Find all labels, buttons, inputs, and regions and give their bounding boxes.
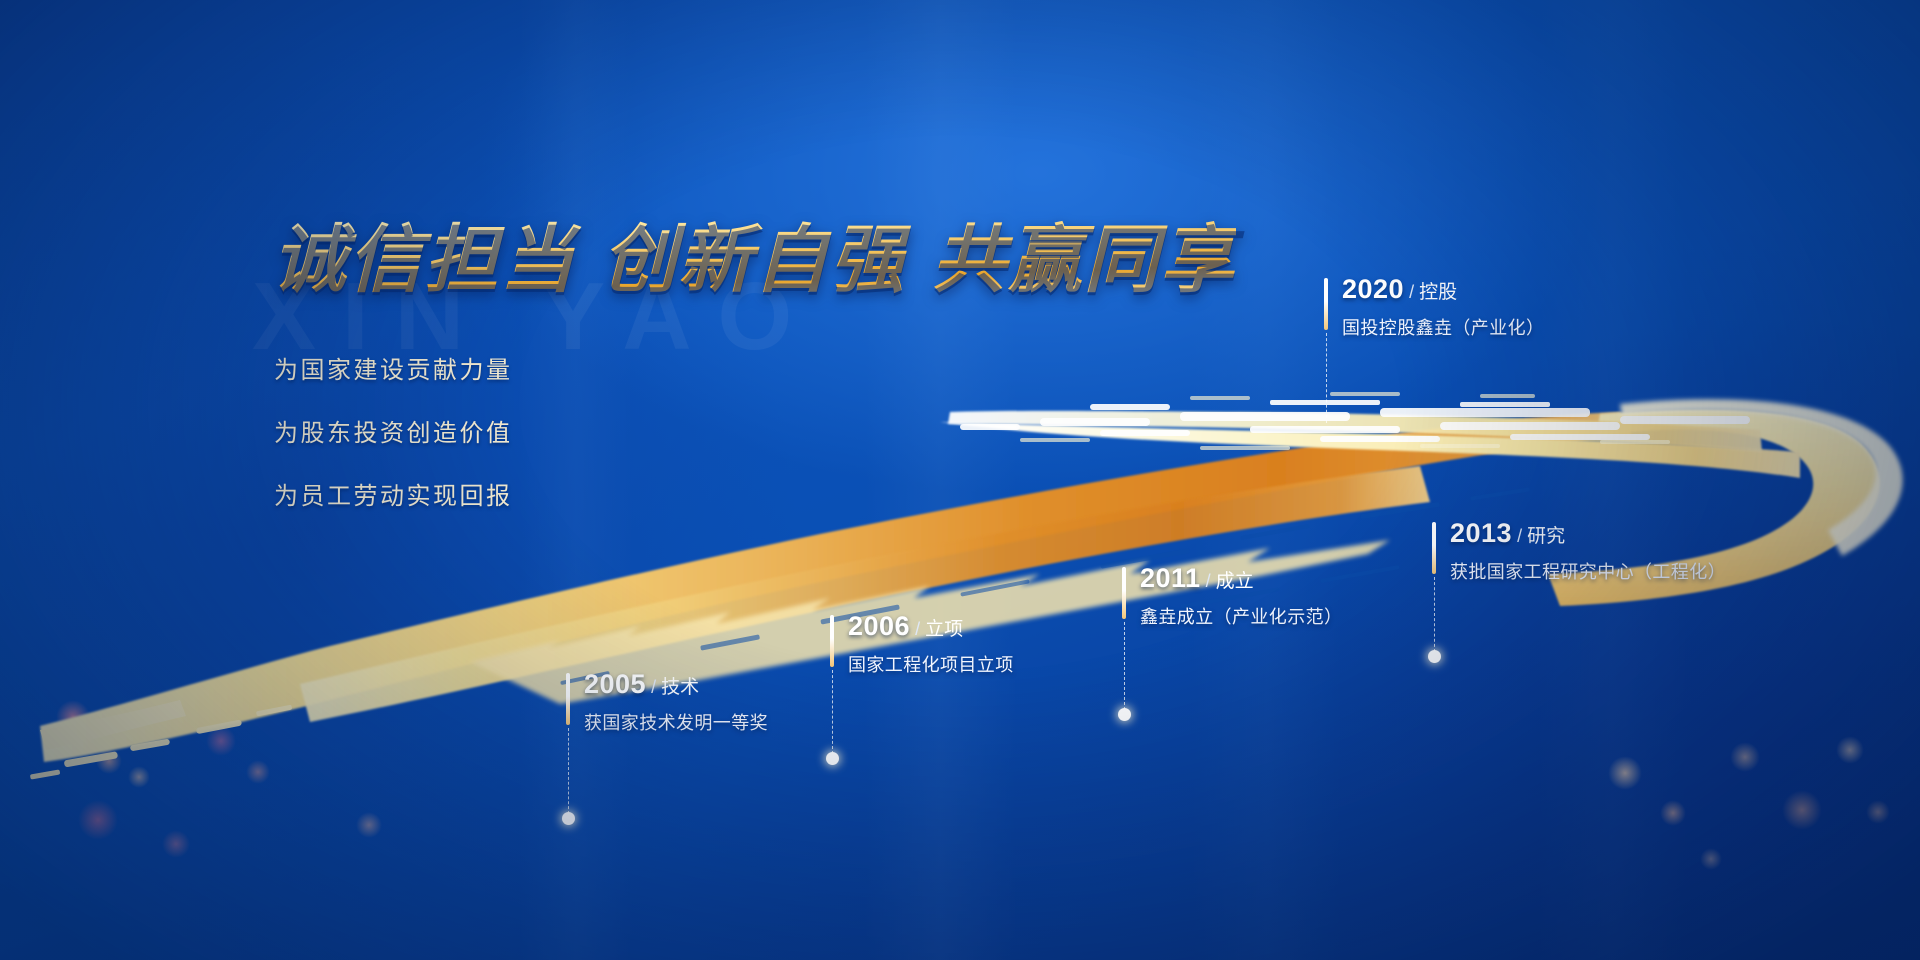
banner-stage: XIN YAO 诚信担当创新自强共赢同享 为国家建设贡献力量 为股东投资创造价值… xyxy=(0,0,1920,960)
marker-year: 2020 xyxy=(1342,274,1404,304)
marker-heading: 2006/立项 xyxy=(848,611,1014,642)
marker-accent-bar xyxy=(830,615,834,667)
bokeh-light xyxy=(1866,800,1890,824)
marker-heading: 2020/控股 xyxy=(1342,274,1544,305)
headline-part-2: 创新自强 xyxy=(602,217,906,303)
marker-heading: 2005/技术 xyxy=(584,669,768,700)
marker-description: 国家工程化项目立项 xyxy=(848,651,1014,677)
marker-text-block: 2011/成立 鑫垚成立（产业化示范） xyxy=(1140,563,1342,629)
marker-leader-line-2006 xyxy=(832,670,833,754)
bokeh-light xyxy=(1730,742,1760,772)
marker-text-block: 2005/技术 获国家技术发明一等奖 xyxy=(584,669,768,735)
marker-accent-bar xyxy=(1432,522,1436,574)
bokeh-light xyxy=(246,760,270,784)
marker-leader-line-2013 xyxy=(1434,577,1435,652)
marker-heading: 2011/成立 xyxy=(1140,563,1342,594)
headline-part-1: 诚信担当 xyxy=(272,217,576,303)
bokeh-light xyxy=(1836,736,1864,764)
marker-dot-2005 xyxy=(562,812,575,825)
marker-leader-line-2020 xyxy=(1326,333,1327,423)
marker-description: 获批国家工程研究中心（工程化） xyxy=(1450,558,1726,584)
marker-text-block: 2020/控股 国投控股鑫垚（产业化） xyxy=(1342,274,1544,340)
bokeh-light xyxy=(56,700,90,734)
marker-tag: 立项 xyxy=(925,618,963,640)
bokeh-light xyxy=(1700,848,1722,870)
marker-separator: / xyxy=(915,619,920,639)
marker-year: 2006 xyxy=(848,611,910,641)
subtitle-list: 为国家建设贡献力量 为股东投资创造价值 为员工劳动实现回报 xyxy=(274,350,513,539)
bokeh-light xyxy=(1782,790,1822,830)
headline-part-3: 共赢同享 xyxy=(932,217,1236,303)
subtitle-line-1: 为国家建设贡献力量 xyxy=(274,350,513,385)
marker-accent-bar xyxy=(1122,567,1126,619)
marker-leader-line-2005 xyxy=(568,728,569,814)
marker-tag: 成立 xyxy=(1216,570,1254,592)
marker-description: 鑫垚成立（产业化示范） xyxy=(1140,603,1342,629)
marker-separator: / xyxy=(651,677,656,697)
marker-separator: / xyxy=(1517,526,1522,546)
marker-description: 国投控股鑫垚（产业化） xyxy=(1342,314,1544,340)
bokeh-light xyxy=(96,748,122,774)
bokeh-light xyxy=(1660,800,1686,826)
marker-text-block: 2013/研究 获批国家工程研究中心（工程化） xyxy=(1450,518,1726,584)
marker-text-block: 2006/立项 国家工程化项目立项 xyxy=(848,611,1014,677)
page-title: 诚信担当创新自强共赢同享 xyxy=(272,200,1236,307)
marker-tag: 研究 xyxy=(1527,525,1565,547)
marker-accent-bar xyxy=(1324,278,1328,330)
marker-separator: / xyxy=(1206,571,1211,591)
subtitle-line-3: 为员工劳动实现回报 xyxy=(274,476,513,511)
bokeh-light xyxy=(128,766,150,788)
marker-description: 获国家技术发明一等奖 xyxy=(584,709,768,735)
bokeh-light xyxy=(162,830,190,858)
marker-tag: 控股 xyxy=(1419,281,1457,303)
marker-accent-bar xyxy=(566,673,570,725)
bokeh-light xyxy=(78,800,118,840)
marker-heading: 2013/研究 xyxy=(1450,518,1726,549)
bokeh-light xyxy=(1608,756,1642,790)
marker-dot-2013 xyxy=(1428,650,1441,663)
bokeh-light xyxy=(206,726,236,756)
marker-dot-2011 xyxy=(1118,708,1131,721)
marker-tag: 技术 xyxy=(661,676,699,698)
marker-year: 2013 xyxy=(1450,518,1512,548)
marker-dot-2006 xyxy=(826,752,839,765)
marker-separator: / xyxy=(1409,282,1414,302)
subtitle-line-2: 为股东投资创造价值 xyxy=(274,413,513,448)
marker-year: 2011 xyxy=(1140,563,1201,593)
bokeh-light xyxy=(356,812,382,838)
marker-year: 2005 xyxy=(584,669,646,699)
marker-leader-line-2011 xyxy=(1124,622,1125,710)
